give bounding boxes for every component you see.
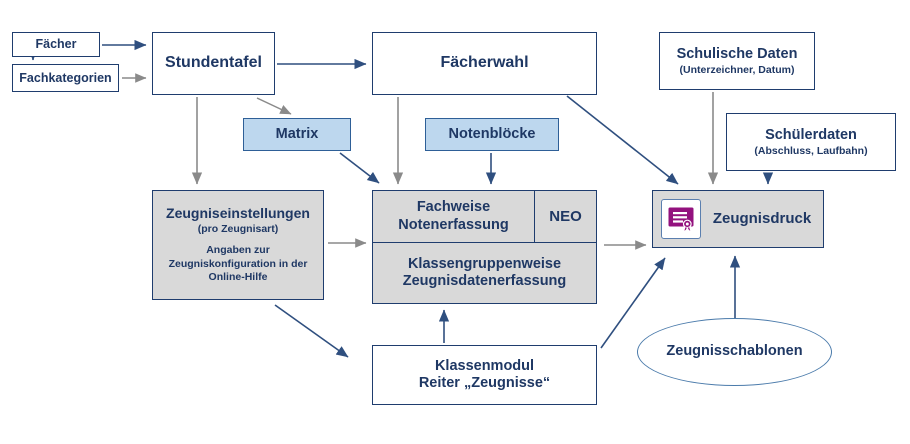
node-klassengruppenweise-line1: Klassengruppenweise bbox=[408, 256, 561, 273]
node-klassenmodul-line2: Reiter „Zeugnisse“ bbox=[419, 375, 550, 392]
node-faecher-label: Fächer bbox=[36, 37, 77, 52]
node-notenbloecke[interactable]: Notenblöcke bbox=[425, 118, 559, 151]
node-schuelerdaten-label: Schülerdaten bbox=[765, 127, 857, 144]
node-stundentafel[interactable]: Stundentafel bbox=[152, 32, 275, 95]
node-zeugnisdruck[interactable]: Zeugnisdruck bbox=[652, 190, 824, 248]
node-zeugnisschablonen[interactable]: Zeugnisschablonen bbox=[637, 318, 832, 386]
node-stundentafel-label: Stundentafel bbox=[165, 54, 262, 73]
node-fachkategorien[interactable]: Fachkategorien bbox=[12, 64, 119, 92]
node-faecherwahl-label: Fächerwahl bbox=[440, 54, 528, 73]
node-notenbloecke-label: Notenblöcke bbox=[448, 126, 535, 143]
node-zeugniseinstellungen-body: Angaben zur Zeugniskonfiguration in der … bbox=[153, 244, 323, 285]
node-zeugniseinstellungen-sub: (pro Zeugnisart) bbox=[198, 223, 279, 235]
edge-faecherwahl-zeugnisdruck bbox=[567, 96, 678, 184]
node-matrix[interactable]: Matrix bbox=[243, 118, 351, 151]
node-schuelerdaten-sub: (Abschluss, Laufbahn) bbox=[754, 145, 867, 157]
node-klassengruppenweise-line2: Zeugnisdatenerfassung bbox=[403, 273, 567, 290]
node-faecher[interactable]: Fächer bbox=[12, 32, 100, 57]
node-zeugniseinstellungen-label: Zeugniseinstellungen bbox=[166, 205, 310, 222]
node-matrix-label: Matrix bbox=[276, 126, 319, 143]
node-fachweise-notenerfassung[interactable]: Fachweise Notenerfassung bbox=[372, 190, 535, 242]
node-fachweise-line2: Notenerfassung bbox=[398, 217, 508, 234]
node-zeugnisschablonen-label: Zeugnisschablonen bbox=[666, 343, 802, 360]
node-schuelerdaten[interactable]: Schülerdaten (Abschluss, Laufbahn) bbox=[726, 113, 896, 171]
edge-stundentafel-matrix bbox=[257, 98, 291, 114]
certificate-icon bbox=[661, 199, 701, 239]
node-zeugniseinstellungen[interactable]: Zeugniseinstellungen (pro Zeugnisart) An… bbox=[152, 190, 324, 300]
flow-diagram-canvas: Fächer Fachkategorien Stundentafel Fäche… bbox=[0, 0, 910, 444]
node-fachweise-line1: Fachweise bbox=[417, 199, 490, 216]
node-zeugnisdruck-label: Zeugnisdruck bbox=[707, 210, 823, 228]
node-klassenmodul[interactable]: Klassenmodul Reiter „Zeugnisse“ bbox=[372, 345, 597, 405]
node-faecherwahl[interactable]: Fächerwahl bbox=[372, 32, 597, 95]
node-schulische-daten[interactable]: Schulische Daten (Unterzeichner, Datum) bbox=[659, 32, 815, 90]
edge-matrix-fachweise bbox=[340, 153, 379, 183]
node-schulische-daten-sub: (Unterzeichner, Datum) bbox=[680, 64, 795, 76]
edge-zeugniseinstellungen-klassenmodul bbox=[275, 305, 348, 357]
node-neo[interactable]: NEO bbox=[535, 190, 597, 242]
node-klassengruppenweise-zeugnisdatenerfassung[interactable]: Klassengruppenweise Zeugnisdatenerfassun… bbox=[372, 242, 597, 304]
node-schulische-daten-label: Schulische Daten bbox=[677, 46, 798, 63]
node-fachkategorien-label: Fachkategorien bbox=[19, 71, 111, 86]
node-neo-label: NEO bbox=[549, 208, 582, 226]
node-klassenmodul-line1: Klassenmodul bbox=[435, 358, 534, 375]
